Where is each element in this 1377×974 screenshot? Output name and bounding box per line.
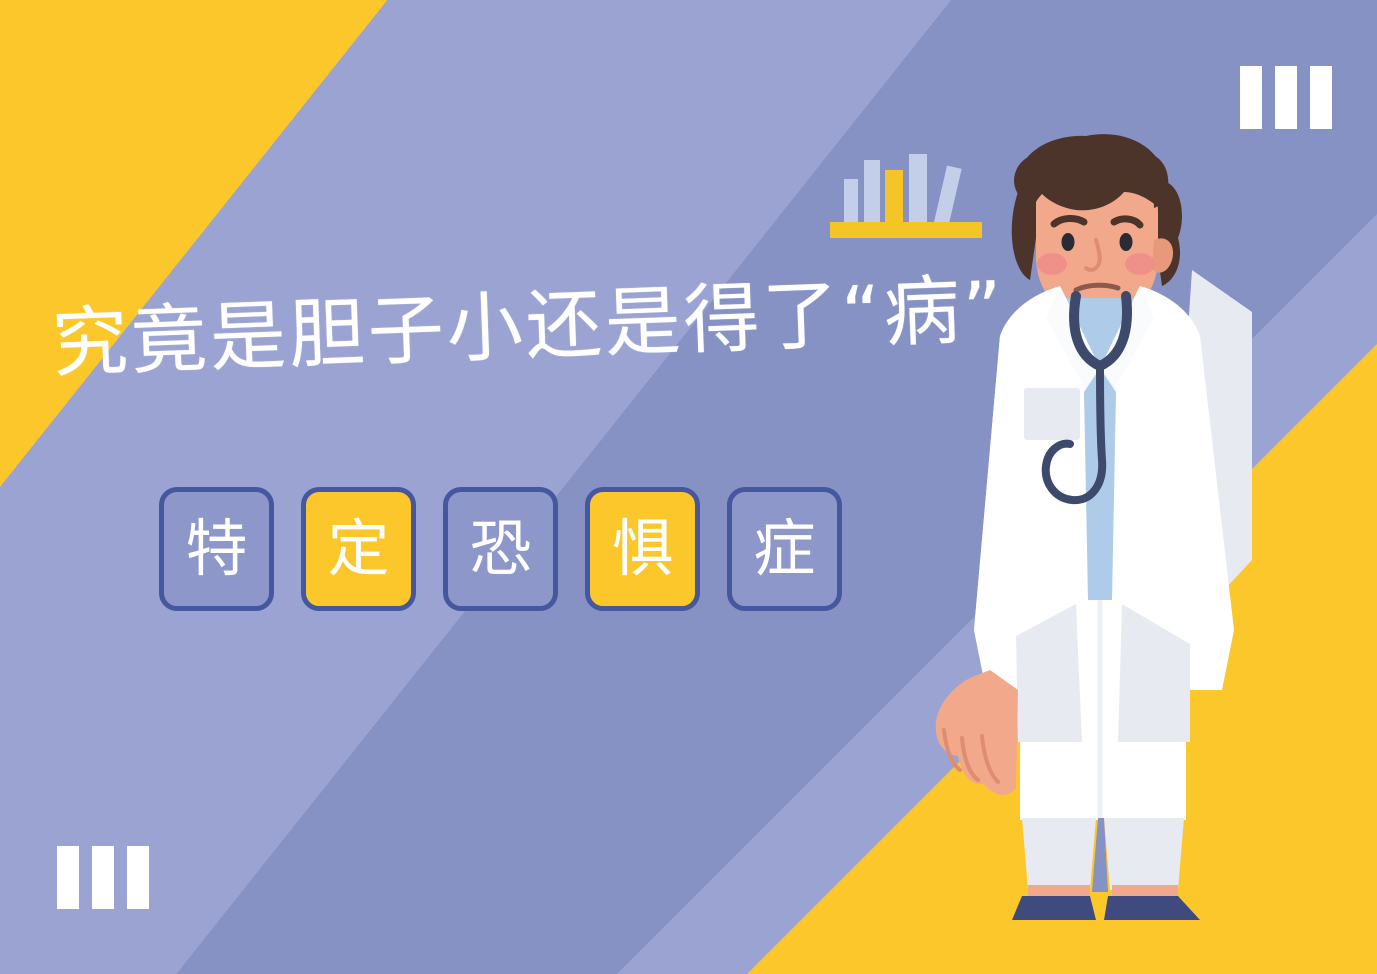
keyword-box-4[interactable]: 惧 — [585, 487, 700, 611]
book-2 — [864, 160, 880, 222]
corner-bar-tr-3 — [1310, 66, 1332, 129]
keyword-box-1[interactable]: 特 — [159, 487, 274, 611]
keyword-box-5[interactable]: 症 — [727, 487, 842, 611]
corner-bar-bl-2 — [92, 846, 114, 909]
keyword-char-4: 惧 — [611, 518, 673, 580]
corner-bars-bottom-left — [57, 846, 149, 909]
corner-bar-bl-3 — [127, 846, 149, 909]
corner-bar-tr-1 — [1240, 66, 1262, 129]
poster-canvas: 究竟是胆子小还是得了“病” 特 定 恐 惧 症 — [0, 0, 1377, 974]
corner-bars-top-right — [1240, 66, 1332, 129]
keyword-char-5: 症 — [753, 518, 815, 580]
keyword-box-row: 特 定 恐 惧 症 — [159, 487, 842, 611]
keyword-box-2[interactable]: 定 — [301, 487, 416, 611]
corner-bar-tr-2 — [1275, 66, 1297, 129]
keyword-char-3: 恐 — [469, 518, 531, 580]
keyword-char-1: 特 — [185, 518, 247, 580]
doctor-illustration — [900, 130, 1300, 920]
keyword-char-2: 定 — [327, 518, 389, 580]
corner-bar-bl-1 — [57, 846, 79, 909]
keyword-box-3[interactable]: 恐 — [443, 487, 558, 611]
book-1 — [844, 179, 858, 222]
